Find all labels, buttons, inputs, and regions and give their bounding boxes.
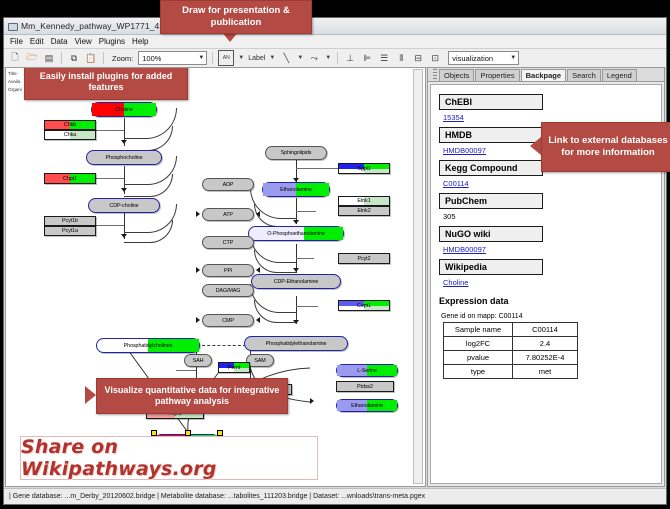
toolbar-separator [337, 52, 338, 64]
arrow-icon [256, 317, 260, 323]
node-sam[interactable]: SAM [246, 354, 274, 367]
canvas-info-organism: Organi [8, 87, 22, 92]
tab-properties[interactable]: Properties [475, 69, 519, 81]
cell-key: type [444, 365, 513, 379]
visualization-value: visualization [452, 54, 493, 63]
node-ppi[interactable]: PPi [202, 264, 254, 277]
node-label: Etnk1 [357, 198, 370, 204]
menu-bar: File Edit Data View Plugins Help [4, 35, 666, 49]
title-bar: Mm_Kennedy_pathway_WP1771_45176.gpml [4, 18, 666, 35]
arrow-icon [310, 398, 314, 404]
canvas-vertical-scrollbar[interactable] [413, 69, 423, 484]
pathway-canvas[interactable]: Title: Availa Organi [5, 67, 426, 487]
node-label: CDP-Ethanolamine [274, 279, 319, 285]
node-l-serine-right[interactable]: L-Serine [336, 364, 398, 377]
curve-ppi [124, 174, 173, 197]
node-label: Choline [115, 107, 133, 113]
node-ethanolamine[interactable]: Ethanolamine [262, 182, 330, 197]
callout-quant: Visualize quantitative data for integrat… [96, 378, 288, 414]
chevron-down-icon: ▼ [198, 55, 204, 61]
node-label: Ptdss2 [357, 384, 373, 390]
tab-objects[interactable]: Objects [439, 69, 474, 81]
align-left-icon[interactable]: ⊫ [360, 51, 374, 65]
align-bottom-icon[interactable]: ⊥ [343, 51, 357, 65]
callout-plugins: Easily install plugins for added feature… [24, 67, 188, 100]
arrow-icon [196, 211, 200, 217]
backpage-link-chebi[interactable]: 15354 [443, 113, 661, 122]
backpage-link-kegg[interactable]: C00114 [443, 179, 661, 188]
node-label: Phosphatidylcholines [124, 343, 173, 349]
menu-data[interactable]: Data [51, 37, 68, 46]
node-label: PPi [224, 268, 232, 274]
backpage-header-wikipedia: Wikipedia [439, 259, 543, 275]
menu-edit[interactable]: Edit [30, 37, 44, 46]
edge-sgpl1 [296, 168, 338, 169]
callout-draw-text: Draw for presentation & publication [166, 5, 306, 29]
arrow-icon [196, 317, 200, 323]
node-label: Pcyt2 [358, 256, 371, 262]
node-label: SAM [254, 358, 265, 364]
table-row: type met [444, 365, 578, 379]
backpage-header-chebi: ChEBI [439, 94, 543, 110]
new-icon[interactable]: 🗋 [8, 51, 22, 65]
node-label: CTP [223, 240, 233, 246]
chevron-down-icon[interactable]: ▼ [297, 55, 303, 61]
node-label: SAH [193, 358, 204, 364]
node-label: Sphingolipids [281, 150, 312, 156]
label-tool-label[interactable]: Label [248, 55, 265, 62]
curve-cmp [124, 220, 173, 243]
table-row: log2FC 2.4 [444, 337, 578, 351]
cell-key: log2FC [444, 337, 513, 351]
cell-key: pvalue [444, 351, 513, 365]
edge-pcyt1 [96, 225, 124, 226]
gene-id-line: Gene id on mapp: C00114 [441, 313, 661, 320]
copy-icon[interactable]: ⧉ [67, 51, 81, 65]
node-chkb[interactable]: Chkb [44, 120, 96, 130]
status-bar: | Gene database: ...m_Derby_20120602.bri… [4, 488, 666, 504]
zoom-label: Zoom: [112, 54, 133, 63]
backpage-link-nugo[interactable]: HMDB00097 [443, 245, 661, 254]
cell-value: C00114 [513, 323, 578, 337]
toolbar-separator [103, 52, 104, 64]
arrow-icon [256, 267, 260, 273]
node-phosphatidylethanolamine[interactable]: Phosphatidylethanolamine [244, 336, 348, 351]
arrow-icon [256, 211, 260, 217]
callout-links-tip [530, 137, 541, 155]
node-sah[interactable]: SAH [184, 354, 212, 367]
menu-plugins[interactable]: Plugins [99, 37, 125, 46]
callout-links: Link to external databases for more info… [541, 122, 670, 172]
zoom-combo[interactable]: 100% ▼ [138, 51, 207, 65]
paste-icon[interactable]: 📋 [84, 51, 98, 65]
chevron-down-icon[interactable]: ▼ [238, 55, 244, 61]
node-ethanolamine-bottom[interactable]: Ethanolamine [336, 399, 398, 412]
node-label: ATP [223, 212, 233, 218]
node-pcyt1a[interactable]: Pcyt1a [44, 226, 96, 236]
distribute-icon[interactable]: ⦀ [394, 51, 408, 65]
table-row: Sample name C00114 [444, 323, 578, 337]
node-label: Chka [64, 132, 76, 138]
common-width-icon[interactable]: ⊟ [411, 51, 425, 65]
node-o-phosphoethanolamine[interactable]: O-Phosphoethanolamine [248, 226, 344, 241]
stack-icon[interactable]: ☰ [377, 51, 391, 65]
common-height-icon[interactable]: ⊡ [428, 51, 442, 65]
arrow-icon [196, 267, 200, 273]
node-pcyt1b[interactable]: Pcyt1b [44, 216, 96, 226]
line-icon[interactable]: ╲ [279, 51, 293, 65]
status-text: | Gene database: ...m_Derby_20120602.bri… [9, 493, 425, 500]
curve-ppi2 [254, 250, 297, 273]
node-etnk1[interactable]: Etnk1 [338, 196, 390, 206]
table-row: pvalue 7.80252E-4 [444, 351, 578, 365]
node-label: Etnk2 [357, 208, 370, 214]
toolbar-separator [61, 52, 62, 64]
node-label: Sgpl1 [357, 166, 370, 172]
node-etnk2[interactable]: Etnk2 [338, 206, 390, 216]
chevron-down-icon[interactable]: ▼ [325, 55, 331, 61]
backpage-header-hmdb: HMDB [439, 127, 543, 143]
expression-table: Sample name C00114 log2FC 2.4 pvalue 7.8… [443, 322, 578, 379]
edge-cept1 [296, 306, 318, 307]
node-ptdss2[interactable]: Ptdss2 [336, 381, 394, 392]
sidebar-tabs: Objects Properties Backpage Search Legen… [428, 68, 664, 82]
menu-file[interactable]: File [10, 37, 23, 46]
node-atp[interactable]: ATP [202, 208, 254, 221]
tab-legend[interactable]: Legend [602, 69, 637, 81]
backpage-link-wikipedia[interactable]: Choline [443, 278, 661, 287]
visualization-combo[interactable]: visualization ▼ [448, 51, 519, 65]
canvas-info-available: Availa [8, 79, 20, 84]
node-choline[interactable]: Choline [91, 102, 157, 117]
node-adp[interactable]: ADP [202, 178, 254, 191]
node-phosphatidylcholines[interactable]: Phosphatidylcholines [96, 338, 200, 353]
node-label: ADP [223, 182, 234, 188]
tab-backpage[interactable]: Backpage [521, 69, 566, 81]
backpage-header-pubchem: PubChem [439, 193, 543, 209]
node-ctp[interactable]: CTP [202, 236, 254, 249]
chevron-down-icon: ▼ [510, 55, 516, 61]
canvas-info-title: Title: [8, 71, 18, 76]
pathvisio-icon [7, 21, 17, 31]
cell-value: met [513, 365, 578, 379]
node-label: L-Serine [357, 368, 377, 374]
node-label: Phosphocholine [106, 155, 143, 161]
node-cept1[interactable]: Cept1 [338, 300, 390, 311]
node-label: DAG/MAG [216, 288, 241, 294]
node-label: Chpt1 [63, 176, 77, 182]
curve-cmp2 [254, 300, 297, 323]
callout-quant-text: Visualize quantitative data for integrat… [103, 385, 281, 408]
node-pcyt2[interactable]: Pcyt2 [338, 253, 390, 264]
node-label: O-Phosphoethanolamine [267, 231, 325, 237]
callout-share: Share on Wikipathways.org [20, 436, 318, 480]
node-label: Pemt [228, 365, 240, 371]
cell-key: Sample name [444, 323, 513, 337]
curve-atp [124, 126, 173, 151]
interaction-icon[interactable]: ⤳ [307, 51, 321, 65]
node-label: Cept1 [357, 303, 371, 309]
menu-help[interactable]: Help [132, 37, 148, 46]
tab-search[interactable]: Search [567, 69, 601, 81]
edge-chk [96, 130, 124, 131]
node-chpt1[interactable]: Chpt1 [44, 173, 96, 184]
callout-plugins-text: Easily install plugins for added feature… [30, 71, 182, 94]
pathvisio-window: Mm_Kennedy_pathway_WP1771_45176.gpml Fil… [3, 17, 667, 505]
node-cmp[interactable]: CMP [202, 314, 254, 327]
menu-view[interactable]: View [75, 37, 92, 46]
toolbar-separator [212, 52, 213, 64]
cell-value: 7.80252E-4 [513, 351, 578, 365]
node-chka[interactable]: Chka [44, 130, 96, 140]
node-label: CMP [222, 318, 234, 324]
node-sgpl1[interactable]: Sgpl1 [338, 163, 390, 174]
curve-atp2 [254, 204, 297, 227]
node-dag-mag[interactable]: DAG/MAG [202, 284, 254, 297]
datanode-icon[interactable]: AN [218, 50, 234, 66]
backpage-header-nugo: NuGO wiki [439, 226, 543, 242]
node-label: Phosphatidylethanolamine [266, 341, 327, 347]
node-label: Pcyt1b [62, 218, 78, 224]
backpage-value-pubchem: 305 [443, 212, 661, 221]
backpage-header-kegg: Kegg Compound [439, 160, 543, 176]
node-label: Chkb [64, 122, 76, 128]
node-label: Ethanolamine [351, 403, 383, 409]
chevron-down-icon[interactable]: ▼ [269, 55, 275, 61]
edge-pcyt2 [296, 258, 314, 259]
zoom-value: 100% [142, 54, 161, 63]
callout-draw: Draw for presentation & publication [160, 0, 312, 34]
cell-value: 2.4 [513, 337, 578, 351]
node-cdp-ethanolamine[interactable]: CDP-Ethanolamine [251, 274, 341, 289]
open-icon[interactable]: 🗁 [25, 51, 39, 65]
node-sphingolipids[interactable]: Sphingolipids [265, 146, 327, 160]
node-pemt[interactable]: Pemt [218, 362, 250, 373]
callout-share-text: Share on Wikipathways.org [21, 436, 317, 480]
node-label: Ethanolamine [280, 187, 312, 193]
expression-data-title: Expression data [439, 296, 661, 306]
callout-quant-tip [85, 386, 96, 404]
callout-links-text: Link to external databases for more info… [547, 135, 669, 159]
node-label: Pcyt1a [62, 228, 78, 234]
edge-etnk [296, 211, 316, 212]
tab-grip[interactable] [433, 69, 437, 80]
edge-chpt1 [96, 178, 124, 179]
save-icon[interactable]: ▤ [42, 51, 56, 65]
node-label: CDP-choline [109, 203, 138, 209]
node-cdp-choline[interactable]: CDP-choline [88, 198, 160, 213]
node-phosphocholine[interactable]: Phosphocholine [86, 150, 162, 165]
